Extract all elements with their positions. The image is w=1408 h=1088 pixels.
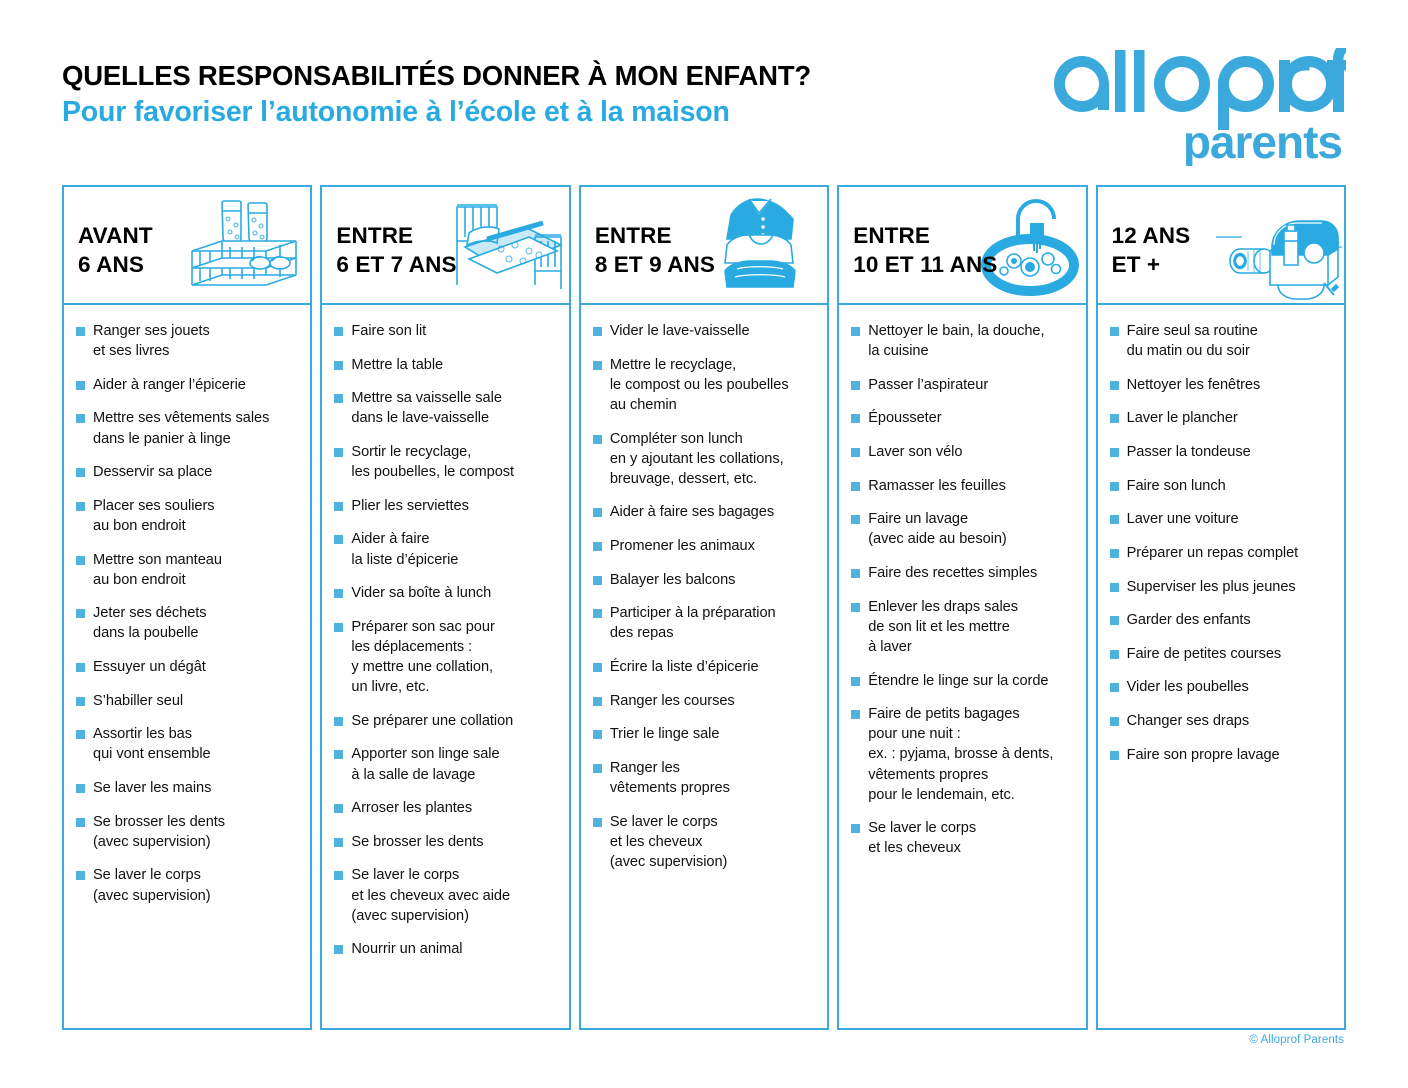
bed-icon [439, 189, 567, 303]
list-item: Ramasser les feuilles [851, 476, 1075, 496]
list-item: Vider le lave-vaisselle [593, 321, 817, 341]
list-item: Trier le linge sale [593, 724, 817, 744]
bullet-icon [851, 482, 860, 491]
page-subtitle: Pour favoriser l’autonomie à l’école et … [62, 96, 811, 130]
bullet-icon [334, 502, 343, 511]
age-card-avant-6-ans: AVANT 6 ANS [62, 185, 312, 1030]
list-item: Vider les poubelles [1110, 677, 1334, 697]
bullet-icon [76, 381, 85, 390]
list-item: Enlever les draps sales de son lit et le… [851, 597, 1075, 657]
bullet-icon [334, 838, 343, 847]
lunch-box-icon [1214, 189, 1342, 303]
bullet-icon [593, 818, 602, 827]
list-item: Se laver le corps et les cheveux [851, 818, 1075, 858]
list-item: Se laver le corps et les cheveux (avec s… [593, 812, 817, 872]
task-text: Épousseter [868, 408, 941, 428]
list-item: Préparer son sac pour les déplacements :… [334, 617, 558, 698]
task-text: Se laver le corps (avec supervision) [93, 865, 211, 905]
list-item: Faire seul sa routine du matin ou du soi… [1110, 321, 1334, 361]
bullet-icon [334, 394, 343, 403]
task-text: Ranger les vêtements propres [610, 758, 730, 798]
card-body: Faire son lit Mettre la table Mettre sa … [322, 305, 568, 1028]
task-text: Mettre sa vaisselle sale dans le lave-va… [351, 388, 501, 428]
list-item: Faire des recettes simples [851, 563, 1075, 583]
task-text: Laver le plancher [1127, 408, 1238, 428]
bullet-icon [851, 603, 860, 612]
list-item: Aider à faire la liste d’épicerie [334, 529, 558, 569]
task-text: Essuyer un dégât [93, 657, 206, 677]
bullet-icon [76, 556, 85, 565]
list-item: Vider sa boîte à lunch [334, 583, 558, 603]
bullet-icon [334, 717, 343, 726]
task-text: Apporter son linge sale à la salle de la… [351, 744, 499, 784]
list-item: Changer ses draps [1110, 711, 1334, 731]
card-header: ENTRE 6 ET 7 ANS [322, 187, 568, 305]
task-text: Mettre son manteau au bon endroit [93, 550, 222, 590]
list-item: Faire son lunch [1110, 476, 1334, 496]
task-text: Mettre la table [351, 355, 443, 375]
task-text: Se laver le corps et les cheveux avec ai… [351, 865, 510, 925]
task-text: Sortir le recyclage, les poubelles, le c… [351, 442, 514, 482]
bullet-icon [851, 381, 860, 390]
bullet-icon [851, 710, 860, 719]
bullet-icon [593, 730, 602, 739]
task-text: Vider le lave-vaisselle [610, 321, 750, 341]
copyright-notice: © Alloprof Parents [1249, 1034, 1344, 1046]
task-text: Nettoyer les fenêtres [1127, 375, 1261, 395]
bullet-icon [76, 730, 85, 739]
task-text: Assortir les bas qui vont ensemble [93, 724, 211, 764]
bullet-icon [334, 945, 343, 954]
task-text: Aider à ranger l’épicerie [93, 375, 246, 395]
card-title: AVANT 6 ANS [78, 221, 153, 280]
bullet-icon [76, 697, 85, 706]
bullet-icon [334, 589, 343, 598]
bullet-icon [851, 824, 860, 833]
task-text: Nettoyer le bain, la douche, la cuisine [868, 321, 1044, 361]
list-item: Essuyer un dégât [76, 657, 300, 677]
task-text: Mettre le recyclage, le compost ou les p… [610, 355, 789, 415]
bullet-icon [593, 576, 602, 585]
bullet-icon [334, 327, 343, 336]
age-card-8-9-ans: ENTRE 8 ET 9 ANS [579, 185, 829, 1030]
bullet-icon [593, 508, 602, 517]
list-item: Aider à faire ses bagages [593, 502, 817, 522]
bullet-icon [1110, 381, 1119, 390]
bullet-icon [1110, 751, 1119, 760]
task-text: Laver une voiture [1127, 509, 1239, 529]
list-item: Faire de petits bagages pour une nuit : … [851, 704, 1075, 805]
task-text: Trier le linge sale [610, 724, 720, 744]
list-item: Plier les serviettes [334, 496, 558, 516]
bullet-icon [851, 448, 860, 457]
list-item: Épousseter [851, 408, 1075, 428]
bullet-icon [76, 327, 85, 336]
list-item: Faire de petites courses [1110, 644, 1334, 664]
list-item: Laver le plancher [1110, 408, 1334, 428]
bullet-icon [76, 609, 85, 618]
task-text: Faire son propre lavage [1127, 745, 1280, 765]
task-text: Se brosser les dents (avec supervision) [93, 812, 225, 852]
alloprof-parents-logo: parents [1046, 48, 1346, 166]
task-text: Garder des enfants [1127, 610, 1251, 630]
bullet-icon [1110, 583, 1119, 592]
list-item: Se brosser les dents [334, 832, 558, 852]
task-list: Faire son lit Mettre la table Mettre sa … [334, 321, 558, 959]
bullet-icon [1110, 327, 1119, 336]
card-title: ENTRE 10 ET 11 ANS [853, 221, 997, 280]
bullet-icon [593, 609, 602, 618]
bullet-icon [76, 502, 85, 511]
task-text: Faire de petits bagages pour une nuit : … [868, 704, 1053, 805]
task-text: Participer à la préparation des repas [610, 603, 776, 643]
task-text: Faire son lit [351, 321, 426, 341]
header-titles: QUELLES RESPONSABILITÉS DONNER À MON ENF… [62, 48, 811, 130]
task-text: Faire un lavage (avec aide au besoin) [868, 509, 1007, 549]
card-header: 12 ANS ET + [1098, 187, 1344, 305]
bullet-icon [593, 327, 602, 336]
list-item: Se brosser les dents (avec supervision) [76, 812, 300, 852]
task-list: Faire seul sa routine du matin ou du soi… [1110, 321, 1334, 765]
list-item: Mettre ses vêtements sales dans le panie… [76, 408, 300, 448]
task-text: Superviser les plus jeunes [1127, 577, 1296, 597]
list-item: Assortir les bas qui vont ensemble [76, 724, 300, 764]
list-item: Arroser les plantes [334, 798, 558, 818]
task-text: Nourrir un animal [351, 939, 462, 959]
page-header: QUELLES RESPONSABILITÉS DONNER À MON ENF… [62, 48, 1346, 168]
task-text: Passer la tondeuse [1127, 442, 1251, 462]
task-text: Faire de petites courses [1127, 644, 1282, 664]
list-item: Écrire la liste d’épicerie [593, 657, 817, 677]
bullet-icon [593, 764, 602, 773]
list-item: Mettre la table [334, 355, 558, 375]
list-item: Ranger les courses [593, 691, 817, 711]
list-item: Mettre le recyclage, le compost ou les p… [593, 355, 817, 415]
card-header: ENTRE 10 ET 11 ANS [839, 187, 1085, 305]
task-list: Ranger ses jouets et ses livres Aider à … [76, 321, 300, 906]
list-item: Faire un lavage (avec aide au besoin) [851, 509, 1075, 549]
list-item: S’habiller seul [76, 691, 300, 711]
task-text: Arroser les plantes [351, 798, 472, 818]
task-text: Jeter ses déchets dans la poubelle [93, 603, 207, 643]
bullet-icon [334, 535, 343, 544]
card-body: Nettoyer le bain, la douche, la cuisine … [839, 305, 1085, 1028]
list-item: Placer ses souliers au bon endroit [76, 496, 300, 536]
bullet-icon [593, 435, 602, 444]
bullet-icon [1110, 448, 1119, 457]
list-item: Apporter son linge sale à la salle de la… [334, 744, 558, 784]
task-text: Aider à faire ses bagages [610, 502, 774, 522]
list-item: Participer à la préparation des repas [593, 603, 817, 643]
card-header: AVANT 6 ANS [64, 187, 310, 305]
task-text: Ranger ses jouets et ses livres [93, 321, 210, 361]
card-body: Faire seul sa routine du matin ou du soi… [1098, 305, 1344, 1028]
list-item: Aider à ranger l’épicerie [76, 375, 300, 395]
list-item: Garder des enfants [1110, 610, 1334, 630]
task-text: Se laver les mains [93, 778, 211, 798]
list-item: Nettoyer le bain, la douche, la cuisine [851, 321, 1075, 361]
bullet-icon [1110, 414, 1119, 423]
list-item: Se préparer une collation [334, 711, 558, 731]
age-columns-container: AVANT 6 ANS [62, 185, 1346, 1030]
task-list: Vider le lave-vaisselle Mettre le recycl… [593, 321, 817, 872]
bullet-icon [1110, 515, 1119, 524]
list-item: Balayer les balcons [593, 570, 817, 590]
bullet-icon [76, 414, 85, 423]
card-body: Ranger ses jouets et ses livres Aider à … [64, 305, 310, 1028]
shoe-rack-icon [180, 189, 308, 303]
task-text: Balayer les balcons [610, 570, 736, 590]
list-item: Promener les animaux [593, 536, 817, 556]
task-text: Étendre le linge sur la corde [868, 671, 1048, 691]
list-item: Faire son lit [334, 321, 558, 341]
bullet-icon [1110, 683, 1119, 692]
list-item: Mettre sa vaisselle sale dans le lave-va… [334, 388, 558, 428]
bullet-icon [851, 677, 860, 686]
list-item: Passer l’aspirateur [851, 375, 1075, 395]
bullet-icon [851, 569, 860, 578]
bullet-icon [76, 468, 85, 477]
card-title: ENTRE 6 ET 7 ANS [336, 221, 456, 280]
svg-text:parents: parents [1183, 116, 1342, 166]
bullet-icon [334, 448, 343, 457]
task-text: Compléter son lunch en y ajoutant les co… [610, 429, 784, 489]
task-text: S’habiller seul [93, 691, 183, 711]
card-title: ENTRE 8 ET 9 ANS [595, 221, 715, 280]
bullet-icon [334, 623, 343, 632]
list-item: Nourrir un animal [334, 939, 558, 959]
card-title: 12 ANS ET + [1112, 221, 1191, 280]
task-text: Faire des recettes simples [868, 563, 1037, 583]
task-text: Placer ses souliers au bon endroit [93, 496, 215, 536]
bullet-icon [334, 750, 343, 759]
bullet-icon [593, 697, 602, 706]
task-text: Préparer son sac pour les déplacements :… [351, 617, 494, 698]
bullet-icon [334, 361, 343, 370]
list-item: Nettoyer les fenêtres [1110, 375, 1334, 395]
task-text: Promener les animaux [610, 536, 755, 556]
card-header: ENTRE 8 ET 9 ANS [581, 187, 827, 305]
bullet-icon [76, 784, 85, 793]
card-body: Vider le lave-vaisselle Mettre le recycl… [581, 305, 827, 1028]
bullet-icon [851, 515, 860, 524]
task-text: Enlever les draps sales de son lit et le… [868, 597, 1018, 657]
list-item: Se laver le corps (avec supervision) [76, 865, 300, 905]
bullet-icon [593, 361, 602, 370]
bullet-icon [1110, 482, 1119, 491]
list-item: Préparer un repas complet [1110, 543, 1334, 563]
bullet-icon [334, 804, 343, 813]
bullet-icon [334, 871, 343, 880]
bullet-icon [1110, 549, 1119, 558]
bullet-icon [851, 327, 860, 336]
bullet-icon [76, 871, 85, 880]
list-item: Ranger ses jouets et ses livres [76, 321, 300, 361]
task-text: Plier les serviettes [351, 496, 468, 516]
task-text: Préparer un repas complet [1127, 543, 1299, 563]
task-text: Ranger les courses [610, 691, 735, 711]
task-text: Ramasser les feuilles [868, 476, 1006, 496]
list-item: Passer la tondeuse [1110, 442, 1334, 462]
bullet-icon [1110, 616, 1119, 625]
bullet-icon [1110, 717, 1119, 726]
age-card-12-ans-et-plus: 12 ANS ET + [1096, 185, 1346, 1030]
list-item: Étendre le linge sur la corde [851, 671, 1075, 691]
task-text: Faire seul sa routine du matin ou du soi… [1127, 321, 1258, 361]
task-text: Mettre ses vêtements sales dans le panie… [93, 408, 269, 448]
task-text: Faire son lunch [1127, 476, 1226, 496]
bullet-icon [1110, 650, 1119, 659]
bullet-icon [593, 663, 602, 672]
list-item: Se laver les mains [76, 778, 300, 798]
task-text: Vider les poubelles [1127, 677, 1249, 697]
task-text: Desservir sa place [93, 462, 212, 482]
task-text: Se laver le corps et les cheveux [868, 818, 976, 858]
list-item: Ranger les vêtements propres [593, 758, 817, 798]
list-item: Jeter ses déchets dans la poubelle [76, 603, 300, 643]
task-text: Passer l’aspirateur [868, 375, 988, 395]
bullet-icon [76, 818, 85, 827]
bullet-icon [76, 663, 85, 672]
folded-clothes-icon [697, 189, 825, 303]
list-item: Laver une voiture [1110, 509, 1334, 529]
list-item: Desservir sa place [76, 462, 300, 482]
list-item: Sortir le recyclage, les poubelles, le c… [334, 442, 558, 482]
bullet-icon [593, 542, 602, 551]
task-text: Se laver le corps et les cheveux (avec s… [610, 812, 728, 872]
list-item: Se laver le corps et les cheveux avec ai… [334, 865, 558, 925]
list-item: Compléter son lunch en y ajoutant les co… [593, 429, 817, 489]
age-card-10-11-ans: ENTRE 10 ET 11 ANS [837, 185, 1087, 1030]
list-item: Faire son propre lavage [1110, 745, 1334, 765]
task-text: Se brosser les dents [351, 832, 483, 852]
task-text: Se préparer une collation [351, 711, 513, 731]
task-list: Nettoyer le bain, la douche, la cuisine … [851, 321, 1075, 859]
infographic-page: QUELLES RESPONSABILITÉS DONNER À MON ENF… [0, 0, 1408, 1088]
bullet-icon [851, 414, 860, 423]
task-text: Changer ses draps [1127, 711, 1249, 731]
list-item: Superviser les plus jeunes [1110, 577, 1334, 597]
page-title: QUELLES RESPONSABILITÉS DONNER À MON ENF… [62, 60, 811, 92]
task-text: Aider à faire la liste d’épicerie [351, 529, 458, 569]
age-card-6-7-ans: ENTRE 6 ET 7 ANS [320, 185, 570, 1030]
task-text: Laver son vélo [868, 442, 962, 462]
task-text: Vider sa boîte à lunch [351, 583, 491, 603]
list-item: Laver son vélo [851, 442, 1075, 462]
list-item: Mettre son manteau au bon endroit [76, 550, 300, 590]
task-text: Écrire la liste d’épicerie [610, 657, 759, 677]
